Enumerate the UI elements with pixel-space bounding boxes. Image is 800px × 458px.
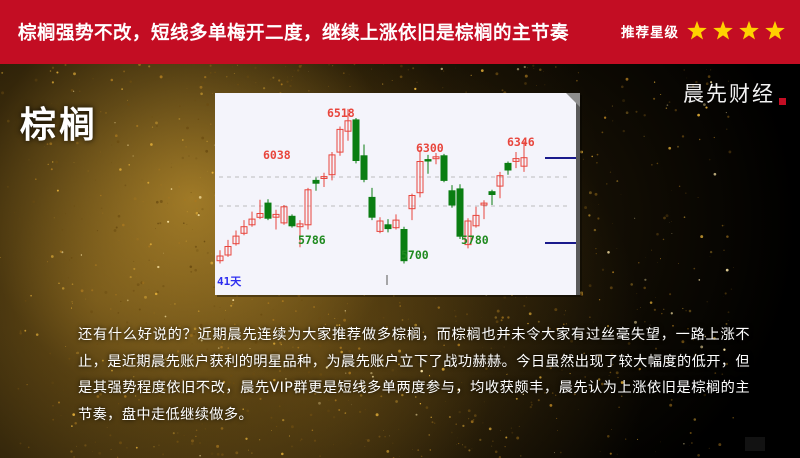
- brand-logo-text: 晨先财经: [683, 78, 775, 108]
- candlestick-chart: [215, 93, 580, 295]
- chart-price-label: 5780: [461, 233, 489, 247]
- chart-price-label: 5786: [298, 233, 326, 247]
- candlestick-chart-card[interactable]: 603865186300634657865700578041天: [215, 93, 580, 295]
- chart-right-rail: [576, 93, 580, 295]
- header-bar: 棕榈强势不改，短线多单梅开二度，继续上涨依旧是棕榈的主节奏 推荐星级: [0, 0, 800, 64]
- chart-day-label: 41天: [217, 273, 241, 289]
- chart-corner-fold-icon: [566, 93, 580, 107]
- brand-logo: 晨先财经: [683, 78, 786, 108]
- rating-label: 推荐星级: [621, 21, 679, 41]
- chart-price-label: 5700: [401, 248, 429, 262]
- corner-watermark: [745, 437, 765, 451]
- brand-logo-dot: [779, 98, 786, 105]
- star-icon: [686, 20, 708, 42]
- chart-price-label: 6518: [327, 106, 355, 120]
- page-title: 棕榈强势不改，短线多单梅开二度，继续上涨依旧是棕榈的主节奏: [18, 19, 569, 45]
- poster-canvas: 棕榈强势不改，短线多单梅开二度，继续上涨依旧是棕榈的主节奏 推荐星级 棕榈 晨先…: [0, 0, 800, 458]
- chart-price-label: 6038: [263, 148, 291, 162]
- star-icon: [764, 20, 786, 42]
- article-body: 还有什么好说的？近期晨先连续为大家推荐做多棕榈，而棕榈也并未令大家有过丝毫失望，…: [78, 322, 750, 428]
- star-icon: [738, 20, 760, 42]
- chart-price-label: 6300: [416, 141, 444, 155]
- rating-stars: [686, 20, 786, 42]
- rating-group: 推荐星级: [621, 20, 786, 42]
- chart-price-label: 6346: [507, 135, 535, 149]
- commodity-name: 棕榈: [20, 96, 98, 148]
- star-icon: [712, 20, 734, 42]
